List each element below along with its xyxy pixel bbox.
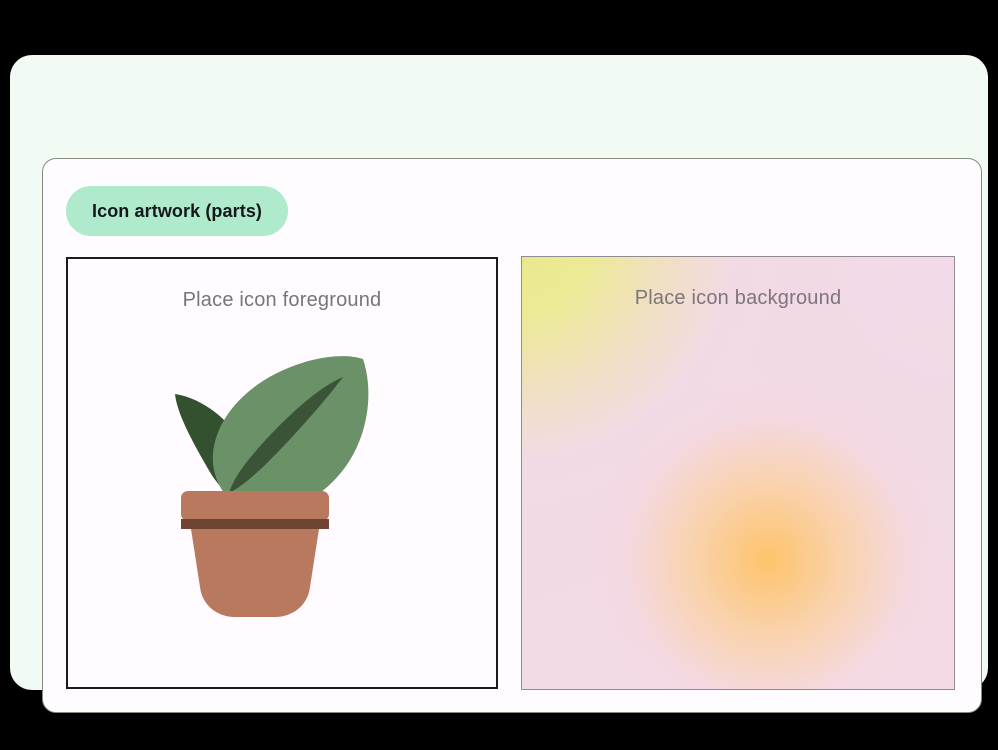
screen-root: Icon artwork (parts) Place icon foregrou… <box>0 0 998 750</box>
icon-background-panel[interactable]: Place icon background <box>521 256 955 690</box>
icon-foreground-label: Place icon foreground <box>68 289 496 312</box>
potted-plant-icon <box>167 339 397 629</box>
page-surface: Icon artwork (parts) Place icon foregrou… <box>10 55 988 690</box>
icon-background-label: Place icon background <box>522 287 954 310</box>
section-badge-label: Icon artwork (parts) <box>92 201 262 222</box>
content-card: Icon artwork (parts) Place icon foregrou… <box>42 158 982 713</box>
section-badge: Icon artwork (parts) <box>66 186 288 236</box>
icon-foreground-panel[interactable]: Place icon foreground <box>66 257 498 689</box>
